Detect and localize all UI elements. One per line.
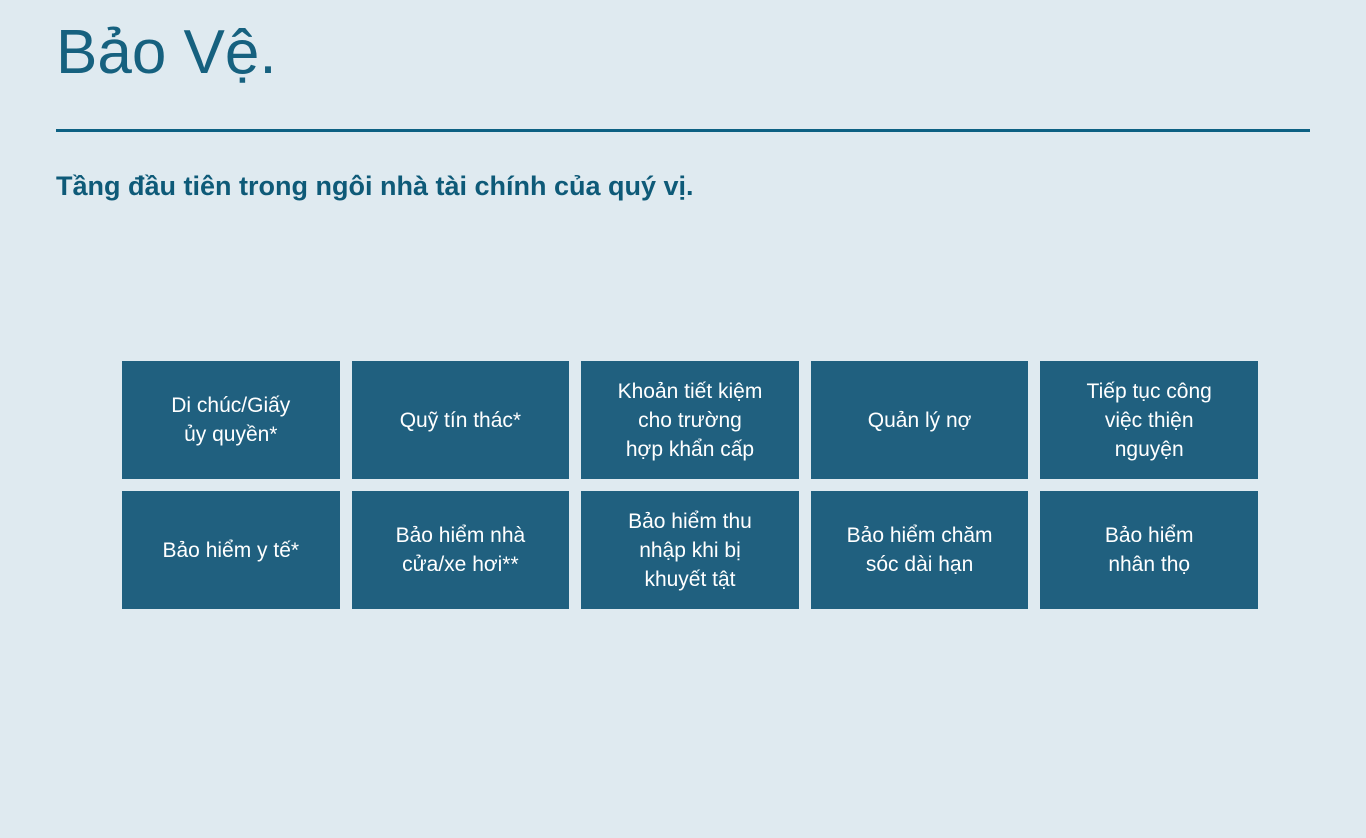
tile-item[interactable]: Bảo hiểm y tế* [122, 491, 340, 609]
page-subtitle: Tầng đầu tiên trong ngôi nhà tài chính c… [56, 170, 694, 202]
tile-label: Bảo hiểm chăm sóc dài hạn [847, 521, 993, 579]
page-title: Bảo Vệ. [56, 22, 277, 84]
tile-label: Tiếp tục công việc thiện nguyện [1087, 377, 1212, 464]
tile-label: Di chúc/Giấy ủy quyền* [171, 391, 290, 449]
tile-item[interactable]: Tiếp tục công việc thiện nguyện [1040, 361, 1258, 479]
tile-item[interactable]: Di chúc/Giấy ủy quyền* [122, 361, 340, 479]
tile-item[interactable]: Bảo hiểm nhà cửa/xe hơi** [352, 491, 570, 609]
title-divider [56, 129, 1310, 132]
slide-canvas: Bảo Vệ. Tầng đầu tiên trong ngôi nhà tài… [0, 0, 1366, 838]
tile-label: Bảo hiểm thu nhập khi bị khuyết tật [628, 507, 752, 594]
tile-label: Bảo hiểm y tế* [163, 536, 300, 565]
tile-item[interactable]: Bảo hiểm thu nhập khi bị khuyết tật [581, 491, 799, 609]
tile-label: Khoản tiết kiệm cho trường hợp khẩn cấp [618, 377, 763, 464]
tile-item[interactable]: Khoản tiết kiệm cho trường hợp khẩn cấp [581, 361, 799, 479]
tile-label: Bảo hiểm nhà cửa/xe hơi** [396, 521, 526, 579]
tile-label: Quản lý nợ [868, 406, 972, 435]
tile-label: Quỹ tín thác* [400, 406, 521, 435]
tile-item[interactable]: Quỹ tín thác* [352, 361, 570, 479]
tile-item[interactable]: Quản lý nợ [811, 361, 1029, 479]
protection-tile-grid: Di chúc/Giấy ủy quyền* Quỹ tín thác* Kho… [122, 361, 1258, 609]
tile-item[interactable]: Bảo hiểm chăm sóc dài hạn [811, 491, 1029, 609]
tile-item[interactable]: Bảo hiểm nhân thọ [1040, 491, 1258, 609]
tile-label: Bảo hiểm nhân thọ [1105, 521, 1194, 579]
